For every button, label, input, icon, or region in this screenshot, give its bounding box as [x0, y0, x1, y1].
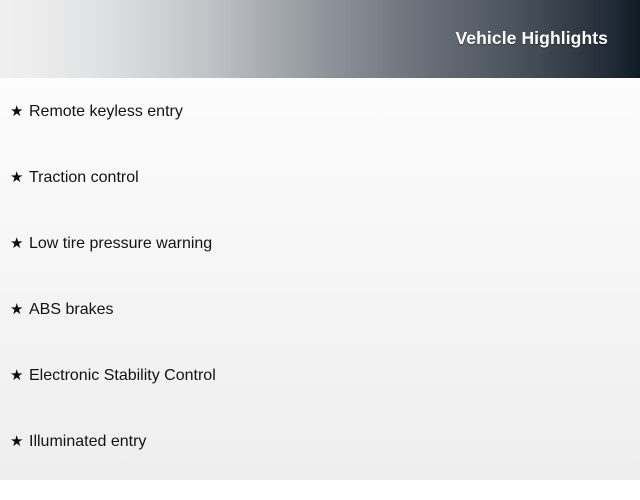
vehicle-highlights-list: ★ Remote keyless entry ★ Traction contro…	[0, 78, 640, 500]
list-item: ★ Traction control	[0, 170, 640, 236]
star-bullet-icon: ★	[10, 104, 29, 119]
highlight-label: Low tire pressure warning	[29, 236, 212, 252]
list-item: ★ ABS brakes	[0, 302, 640, 368]
vehicle-highlights-slide: Vehicle Highlights ★ Remote keyless entr…	[0, 0, 640, 480]
list-item: ★ Remote keyless entry	[0, 78, 640, 170]
list-item: ★ Electronic Stability Control	[0, 368, 640, 434]
highlight-label: Traction control	[29, 170, 139, 186]
star-bullet-icon: ★	[10, 236, 29, 251]
list-item: ★ Illuminated entry	[0, 434, 640, 500]
page-title: Vehicle Highlights	[455, 28, 608, 49]
highlight-label: Illuminated entry	[29, 434, 146, 450]
header-banner: Vehicle Highlights	[0, 0, 640, 78]
star-bullet-icon: ★	[10, 434, 29, 449]
highlight-label: Electronic Stability Control	[29, 368, 216, 384]
star-bullet-icon: ★	[10, 170, 29, 185]
star-bullet-icon: ★	[10, 302, 29, 317]
highlight-label: ABS brakes	[29, 302, 113, 318]
star-bullet-icon: ★	[10, 368, 29, 383]
list-item: ★ Low tire pressure warning	[0, 236, 640, 302]
highlight-label: Remote keyless entry	[29, 104, 183, 120]
